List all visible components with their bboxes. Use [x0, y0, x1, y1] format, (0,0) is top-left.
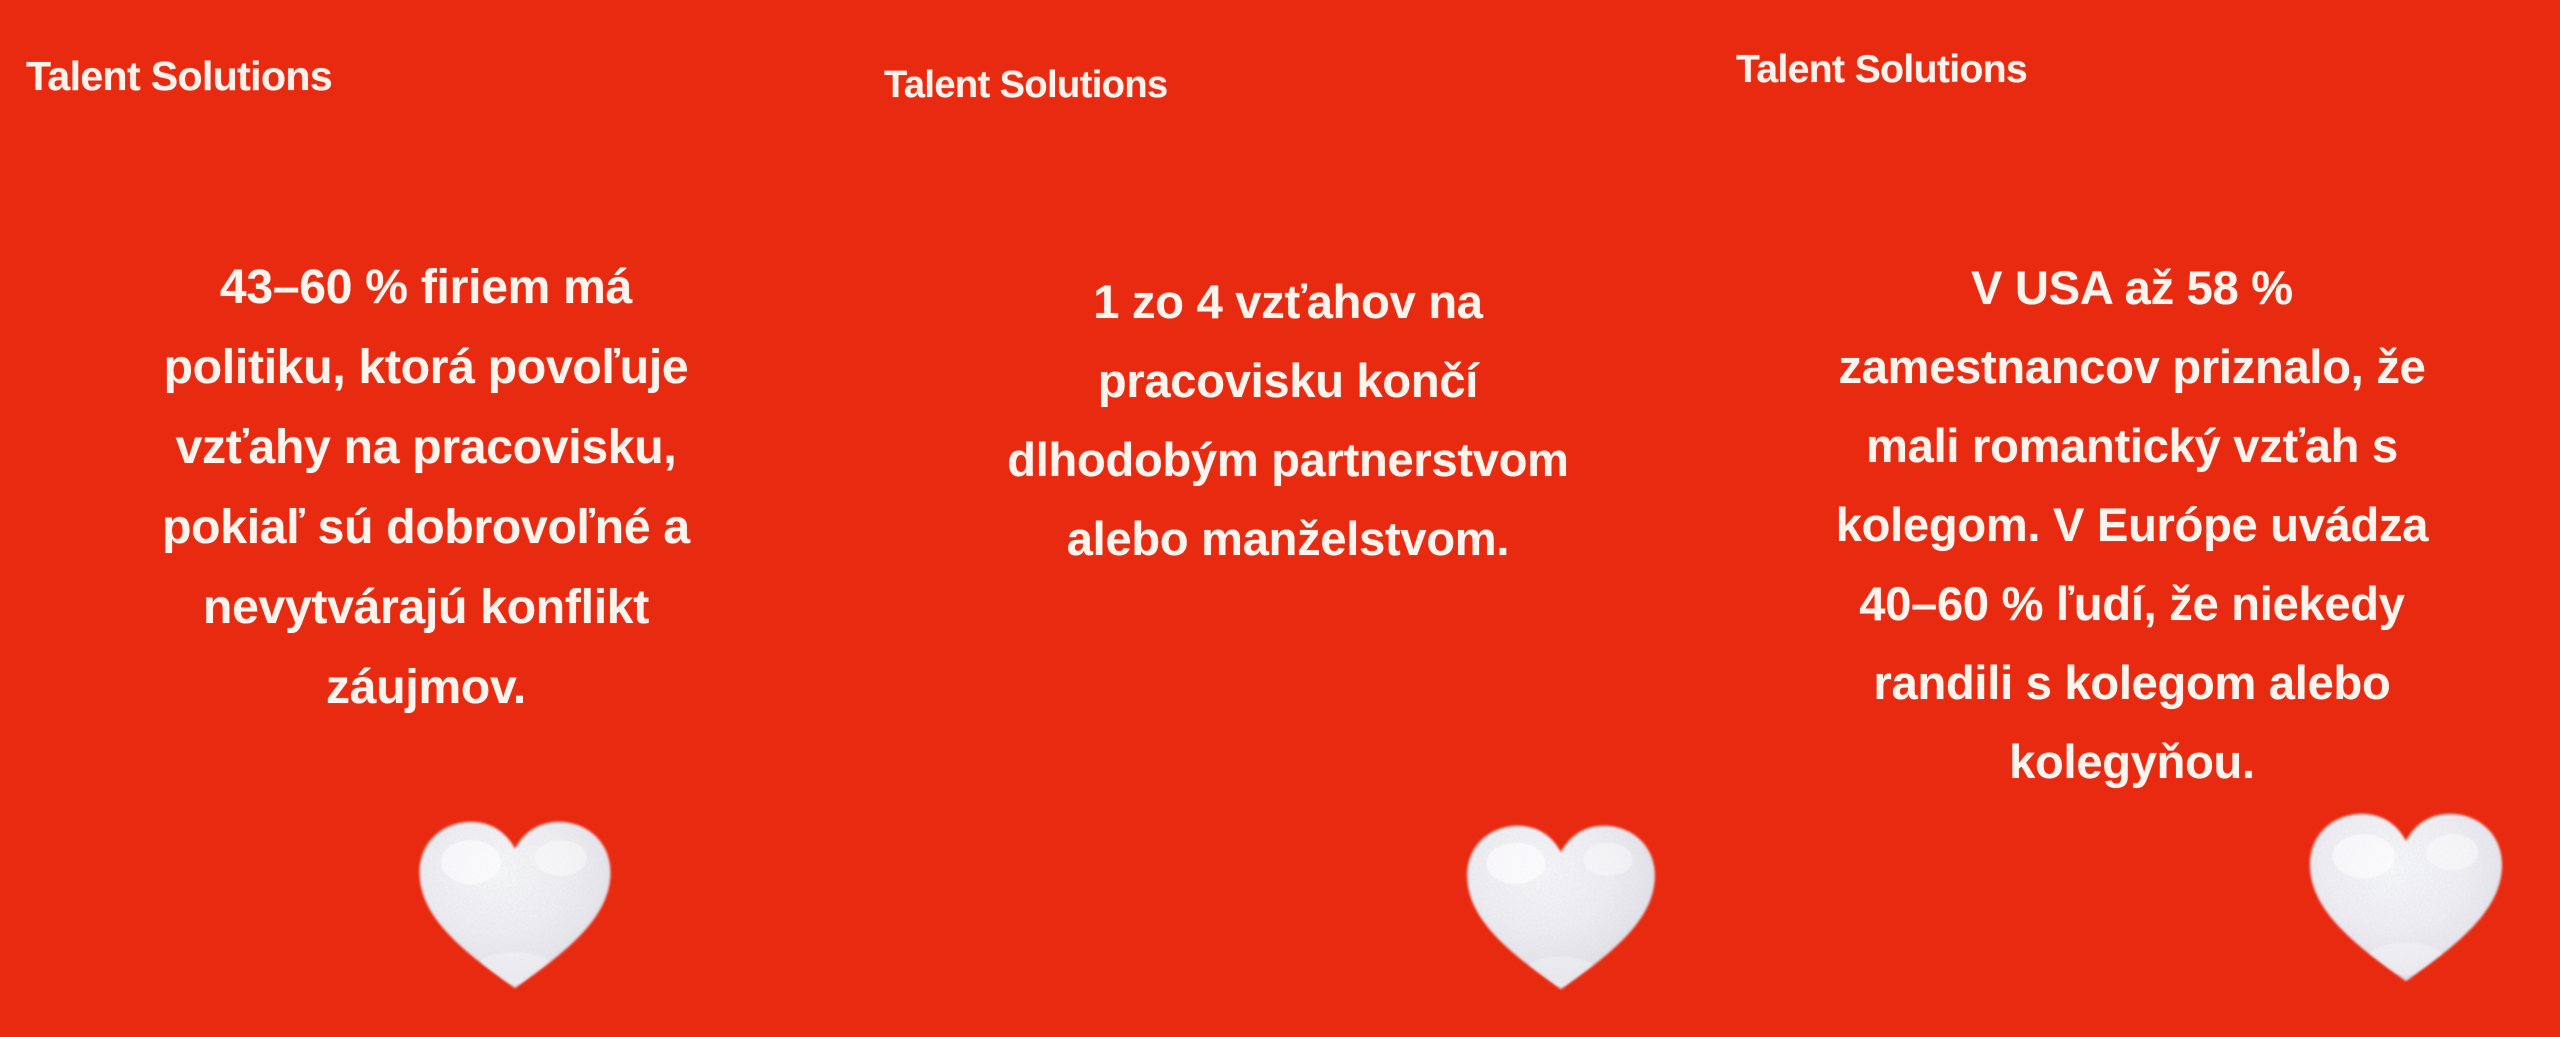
stat-text-block: 43–60 % firiem má politiku, ktorá povoľu… [44, 248, 808, 728]
stat-line: vzťahy na pracovisku, [44, 408, 808, 488]
stat-line: alebo manželstvom. [902, 499, 1674, 578]
slide-2: Talent Solutions 1 zo 4 vzťahov na praco… [852, 0, 1704, 1037]
stat-line: dlhodobým partnerstvom [902, 420, 1674, 499]
stat-line: randili s kolegom alebo [1740, 643, 2524, 722]
stat-line: politiku, ktorá povoľuje [44, 328, 808, 408]
stat-line: kolegyňou. [1740, 722, 2524, 801]
stat-line: 1 zo 4 vzťahov na [902, 262, 1674, 341]
stat-line: záujmov. [44, 648, 808, 728]
brand-wordmark: Talent Solutions [884, 66, 1168, 104]
brand-wordmark: Talent Solutions [1736, 50, 2027, 89]
brand-wordmark: Talent Solutions [26, 56, 332, 97]
stat-line: pracovisku končí [902, 341, 1674, 420]
slide-3: Talent Solutions V USA až 58 % zamestnan… [1704, 0, 2560, 1037]
stat-line: kolegom. V Európe uvádza [1740, 485, 2524, 564]
glitter-heart-icon [2304, 810, 2508, 986]
stat-line: zamestnancov priznalo, že [1740, 327, 2524, 406]
carousel-container: Talent Solutions 43–60 % firiem má polit… [0, 0, 2560, 1037]
slide-1: Talent Solutions 43–60 % firiem má polit… [0, 0, 852, 1037]
stat-line: 43–60 % firiem má [44, 248, 808, 328]
glitter-heart-icon [1462, 822, 1660, 994]
glitter-heart-icon [415, 818, 615, 993]
stat-line: 40–60 % ľudí, že niekedy [1740, 564, 2524, 643]
stat-line: mali romantický vzťah s [1740, 406, 2524, 485]
stat-line: nevytvárajú konflikt [44, 568, 808, 648]
stat-text-block: 1 zo 4 vzťahov na pracovisku končí dlhod… [902, 262, 1674, 578]
stat-line: pokiaľ sú dobrovoľné a [44, 488, 808, 568]
stat-line: V USA až 58 % [1740, 248, 2524, 327]
stat-text-block: V USA až 58 % zamestnancov priznalo, že … [1740, 248, 2524, 801]
